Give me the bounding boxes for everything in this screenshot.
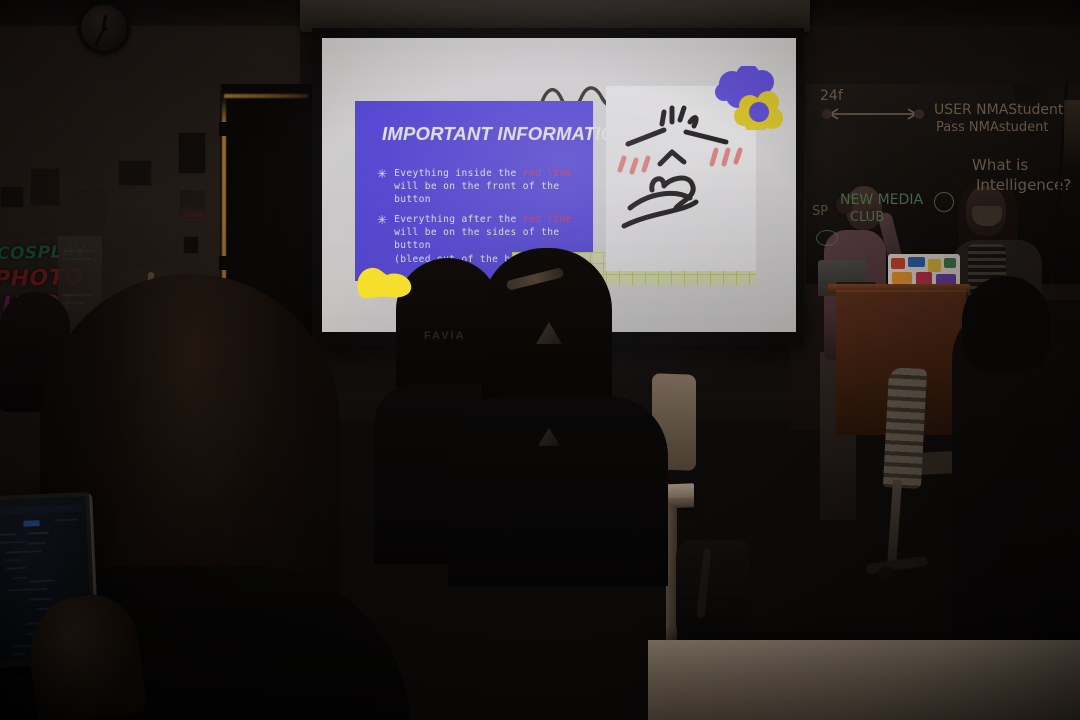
door-hinge <box>219 256 228 270</box>
wall-frame <box>183 236 199 254</box>
student-headband-body <box>448 396 668 586</box>
bullet-star-icon: ✳ <box>377 214 387 227</box>
whiteboard-note-what-is: What is <box>972 156 1028 174</box>
whiteboard-note-user: USER NMAStudent <box>934 102 1063 118</box>
wall-banner <box>1012 84 1048 103</box>
flower-decoration-icon <box>710 66 788 130</box>
wall-frame <box>30 168 60 206</box>
presenter-2-face-mask <box>972 206 1002 226</box>
laptop-sticker <box>928 259 941 272</box>
slide-bullet-1: ✳ Eveything inside the red line will be … <box>377 167 572 207</box>
flyer-line <box>63 258 91 260</box>
slide-title: IMPORTANT INFORMATION <box>382 123 629 145</box>
backpack <box>676 540 750 636</box>
flyer-line <box>63 294 93 296</box>
wall-frame <box>180 190 206 218</box>
whiteboard-arrow-diagram <box>820 106 926 122</box>
laptop-sticker <box>908 257 925 267</box>
foreground-desk <box>648 640 1080 720</box>
office-chair-back <box>883 367 927 489</box>
slide-bullet-1-text: Eveything inside the red line will be on… <box>394 167 572 207</box>
wall-frame <box>0 186 24 208</box>
door-hinge <box>219 122 228 136</box>
wall-clock-icon <box>78 2 130 54</box>
door-light-leak-top <box>224 94 308 98</box>
student-shirt-text: FAVIA <box>424 330 466 342</box>
bullet-2-pre: Everything after the <box>394 214 523 225</box>
laptop-sticker <box>944 258 956 268</box>
bullet-2-highlight: red line <box>523 214 572 225</box>
office-chair-caster <box>878 566 894 582</box>
office-chair-base <box>866 556 929 575</box>
whiteboard-circle-doodle <box>934 192 954 212</box>
flyer-line <box>63 250 95 252</box>
bullet-1-post: will be on the front of the button <box>394 181 559 205</box>
wall-frame <box>178 132 206 174</box>
laptop-sticker <box>891 258 905 269</box>
whiteboard-note-24f: 24f <box>820 88 843 104</box>
bullet-star-icon: ✳ <box>377 168 387 181</box>
flyer-line <box>63 302 85 304</box>
yellow-blob-decoration-icon <box>353 263 415 299</box>
foreground-person-right-head <box>962 276 1050 372</box>
bullet-1-pre: Eveything inside the <box>394 168 523 179</box>
wall-frame <box>118 160 152 186</box>
office-chair-post <box>887 480 902 568</box>
bullet-1-highlight: red line <box>523 168 572 179</box>
laptop-sticker <box>892 272 912 284</box>
whiteboard-note-pass: Pass NMAstudent <box>936 120 1048 135</box>
whiteboard-note-club: CLUB <box>850 210 884 225</box>
classroom-presentation-scene: COSPLAY PHOTO SHOOT 24f USER NMAStudent … <box>0 0 1080 720</box>
whiteboard-note-sp: SP <box>812 204 828 219</box>
wall-frame <box>76 190 106 224</box>
whiteboard-note-new-media: NEW MEDIA <box>840 192 923 208</box>
clock-center-pin <box>102 26 107 31</box>
whiteboard-decoration <box>1064 100 1080 170</box>
whiteboard-circle-doodle <box>816 230 838 246</box>
